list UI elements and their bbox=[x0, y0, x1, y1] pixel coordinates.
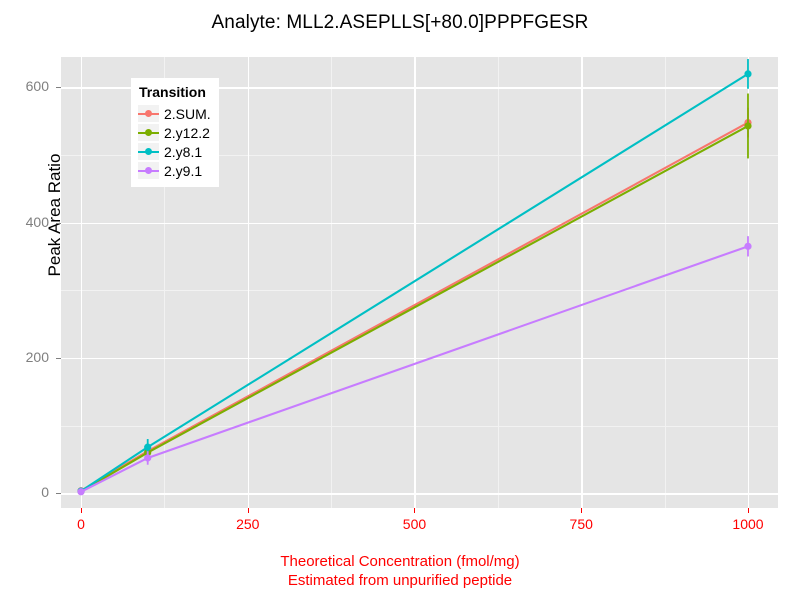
gridline-major-x bbox=[248, 57, 249, 508]
y-tick-label: 0 bbox=[41, 484, 49, 500]
y-tick-mark bbox=[56, 223, 61, 224]
x-axis-title: Theoretical Concentration (fmol/mg) Esti… bbox=[0, 552, 800, 590]
legend-item-label: 2.y12.2 bbox=[164, 125, 210, 141]
legend-items: 2.SUM.2.y12.22.y8.12.y9.1 bbox=[138, 104, 211, 180]
x-tick-label: 500 bbox=[403, 516, 426, 532]
gridline-minor-y bbox=[61, 290, 778, 291]
legend-key-icon bbox=[138, 162, 159, 179]
y-tick-label: 600 bbox=[26, 78, 49, 94]
gridline-major-x bbox=[414, 57, 415, 508]
legend-key-dot bbox=[145, 167, 152, 174]
y-tick-label: 400 bbox=[26, 214, 49, 230]
x-tick-mark bbox=[81, 508, 82, 513]
legend-key-dot bbox=[145, 148, 152, 155]
x-tick-label: 1000 bbox=[732, 516, 763, 532]
legend-item: 2.SUM. bbox=[138, 104, 211, 123]
gridline-major-x bbox=[748, 57, 749, 508]
chart-root: Analyte: MLL2.ASEPLLS[+80.0]PPPFGESR Pea… bbox=[0, 0, 800, 600]
gridline-major-y bbox=[61, 493, 778, 494]
legend-item: 2.y8.1 bbox=[138, 142, 211, 161]
gridline-minor-x bbox=[665, 57, 666, 508]
y-tick-mark bbox=[56, 493, 61, 494]
legend-title: Transition bbox=[139, 84, 211, 100]
legend-key-icon bbox=[138, 105, 159, 122]
x-axis-title-line1: Theoretical Concentration (fmol/mg) bbox=[0, 552, 800, 571]
gridline-minor-x bbox=[498, 57, 499, 508]
gridline-minor-x bbox=[331, 57, 332, 508]
legend-item-label: 2.y8.1 bbox=[164, 144, 202, 160]
legend-item: 2.y12.2 bbox=[138, 123, 211, 142]
legend-key-icon bbox=[138, 124, 159, 141]
x-tick-label: 750 bbox=[570, 516, 593, 532]
y-tick-mark bbox=[56, 87, 61, 88]
y-tick-label: 200 bbox=[26, 349, 49, 365]
legend-key-icon bbox=[138, 143, 159, 160]
chart-title: Analyte: MLL2.ASEPLLS[+80.0]PPPFGESR bbox=[0, 12, 800, 34]
legend-key-dot bbox=[145, 110, 152, 117]
legend: Transition 2.SUM.2.y12.22.y8.12.y9.1 bbox=[131, 78, 219, 187]
gridline-major-y bbox=[61, 358, 778, 359]
y-tick-mark bbox=[56, 358, 61, 359]
x-tick-mark bbox=[748, 508, 749, 513]
x-tick-mark bbox=[248, 508, 249, 513]
x-tick-mark bbox=[581, 508, 582, 513]
gridline-major-x bbox=[81, 57, 82, 508]
legend-item: 2.y9.1 bbox=[138, 161, 211, 180]
gridline-major-x bbox=[581, 57, 582, 508]
x-tick-mark bbox=[414, 508, 415, 513]
x-tick-label: 0 bbox=[77, 516, 85, 532]
gridline-major-y bbox=[61, 223, 778, 224]
legend-item-label: 2.y9.1 bbox=[164, 163, 202, 179]
legend-item-label: 2.SUM. bbox=[164, 106, 211, 122]
legend-key-dot bbox=[145, 129, 152, 136]
x-tick-label: 250 bbox=[236, 516, 259, 532]
gridline-minor-y bbox=[61, 426, 778, 427]
x-axis-title-line2: Estimated from unpurified peptide bbox=[0, 571, 800, 590]
